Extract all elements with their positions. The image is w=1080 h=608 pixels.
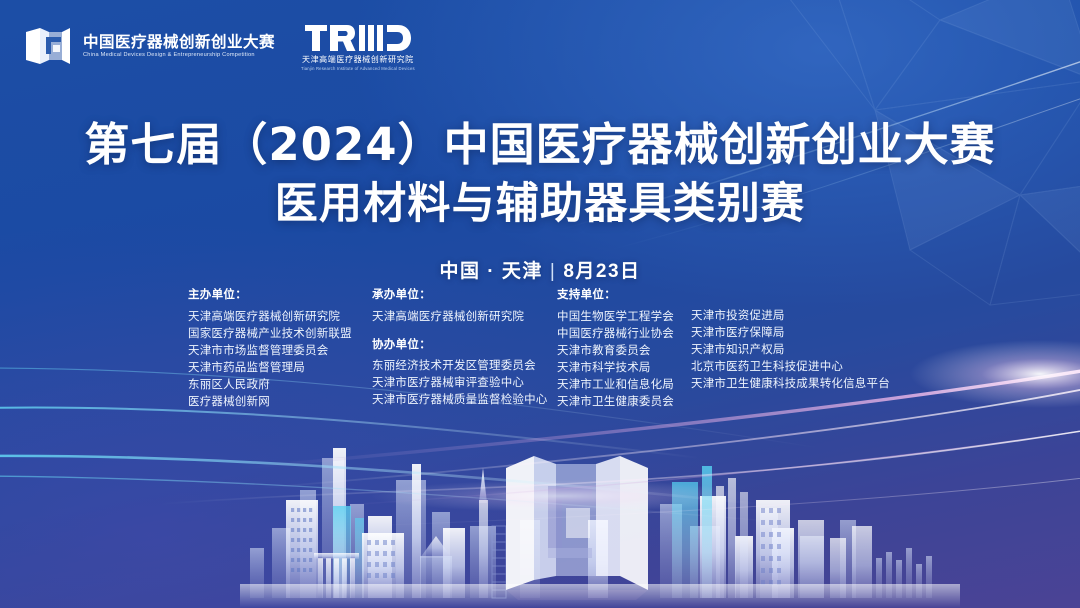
- city-skyline-silhouette: [0, 408, 1080, 608]
- cmdd-logo: 中国医疗器械创新创业大赛 China Medical Devices Desig…: [24, 26, 275, 68]
- coorganizer-item: 东丽经济技术开发区管理委员会: [372, 358, 557, 375]
- poster-canvas: 中国医疗器械创新创业大赛 China Medical Devices Desig…: [0, 0, 1080, 608]
- trmd-logo-en: Tianjin Research Institute of Advanced M…: [301, 67, 415, 71]
- coorganizer-item: 天津市医疗器械质量监督检验中心: [372, 392, 557, 409]
- supporter-item: 天津市卫生健康委员会: [557, 394, 685, 411]
- event-place: 中国 · 天津: [439, 261, 542, 282]
- logo-bar: 中国医疗器械创新创业大赛 China Medical Devices Desig…: [24, 22, 415, 71]
- supporter-item: 天津市工业和信息化局: [557, 377, 685, 394]
- supporter-item: 天津市教育委员会: [557, 343, 685, 360]
- host-item: 天津市市场监督管理委员会: [188, 343, 372, 360]
- supporter-item: 天津市医疗保障局: [691, 325, 897, 342]
- supporter-item: 天津市知识产权局: [691, 342, 897, 359]
- organizer-item: 天津高端医疗器械创新研究院: [372, 309, 557, 326]
- trmd-logo: 天津高端医疗器械创新研究院 Tianjin Research Institute…: [301, 22, 415, 71]
- host-item: 天津市药品监督管理局: [188, 360, 372, 377]
- supporter-item: 中国医疗器械行业协会: [557, 326, 685, 343]
- main-title-line1: 第七届（2024）中国医疗器械创新创业大赛: [0, 118, 1080, 171]
- cmdd-logo-cn: 中国医疗器械创新创业大赛: [83, 35, 275, 51]
- supporter-item: 中国生物医学工程学会: [557, 309, 685, 326]
- subline-divider: |: [543, 261, 563, 282]
- supporter-item: 天津市投资促进局: [691, 308, 897, 325]
- supporters-column: 支持单位： 中国生物医学工程学会 中国医疗器械行业协会 天津市教育委员会 天津市…: [557, 290, 897, 411]
- trmd-wordmark-icon: [305, 23, 411, 53]
- open-door-logo-icon: [24, 26, 72, 68]
- title-block: 第七届（2024）中国医疗器械创新创业大赛 医用材料与辅助器具类别赛: [0, 118, 1080, 231]
- organizer-column: 承办单位： 天津高端医疗器械创新研究院 协办单位： 东丽经济技术开发区管理委员会…: [372, 290, 557, 409]
- coorganizer-item: 天津市医疗器械审评查验中心: [372, 375, 557, 392]
- organization-columns: 主办单位： 天津高端医疗器械创新研究院 国家医疗器械产业技术创新联盟 天津市市场…: [188, 290, 948, 411]
- coorganizer-heading: 协办单位：: [372, 340, 557, 352]
- host-item: 天津高端医疗器械创新研究院: [188, 309, 372, 326]
- main-title-line2: 医用材料与辅助器具类别赛: [0, 179, 1080, 231]
- cmdd-logo-en: China Medical Devices Design & Entrepren…: [83, 53, 275, 59]
- host-heading: 主办单位：: [188, 290, 372, 302]
- host-item: 医疗器械创新网: [188, 394, 372, 411]
- trmd-logo-cn: 天津高端医疗器械创新研究院: [302, 56, 414, 64]
- organizer-heading: 承办单位：: [372, 290, 557, 302]
- supporters-subcolumn-a: 支持单位： 中国生物医学工程学会 中国医疗器械行业协会 天津市教育委员会 天津市…: [557, 290, 685, 411]
- supporters-subcolumn-b: 天津市投资促进局 天津市医疗保障局 天津市知识产权局 北京市医药卫生科技促进中心…: [691, 290, 897, 411]
- host-column: 主办单位： 天津高端医疗器械创新研究院 国家医疗器械产业技术创新联盟 天津市市场…: [188, 290, 372, 411]
- event-place-date: 中国 · 天津|8月23日: [0, 256, 1080, 283]
- event-date: 8月23日: [563, 261, 640, 282]
- host-item: 国家医疗器械产业技术创新联盟: [188, 326, 372, 343]
- host-item: 东丽区人民政府: [188, 377, 372, 394]
- supporter-item: 北京市医药卫生科技促进中心: [691, 359, 897, 376]
- supporters-heading: 支持单位：: [557, 290, 685, 302]
- door-logo-building: [506, 456, 648, 600]
- supporters-spacer: [691, 290, 897, 308]
- supporter-item: 天津市卫生健康科技成果转化信息平台: [691, 376, 897, 393]
- supporter-item: 天津市科学技术局: [557, 360, 685, 377]
